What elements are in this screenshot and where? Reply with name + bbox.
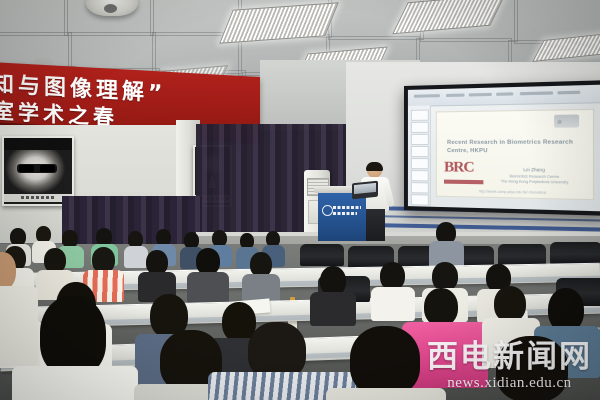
current-slide: Recent Research in Biometrics Research C… — [436, 109, 594, 200]
podium-text-line-2 — [333, 212, 357, 215]
seat-back — [550, 242, 600, 264]
slide-presenter-block: Lei Zhang Biometrics Research Centre The… — [487, 167, 584, 186]
affiliation-line-2: The Hong Kong Polytechnic University — [487, 179, 584, 186]
podium-text-line-1 — [333, 206, 361, 209]
presentation-toolbar — [408, 85, 600, 107]
seat-back — [300, 244, 344, 266]
slide-footer-url: http://www4.comp.polyu.edu.hk/~biometric… — [437, 189, 593, 196]
podium-banner — [318, 193, 366, 241]
brc-logo: BRC — [444, 159, 486, 184]
presenter-laptop — [352, 181, 378, 200]
presenter-name: Lei Zhang — [487, 167, 584, 173]
speaker-hair — [366, 162, 383, 171]
projection-screen: Recent Research in Biometrics Research C… — [404, 80, 600, 216]
photograph: 觉知与图像理解” 验室学术之春 — [0, 0, 600, 400]
brc-logo-text: BRC — [444, 159, 474, 177]
university-logo-icon — [322, 205, 333, 216]
slide-title: Recent Research in Biometrics Research C… — [447, 138, 579, 155]
seat-back — [498, 244, 546, 266]
university-crest-icon — [554, 114, 579, 127]
slide-thumbnail-pane — [408, 105, 431, 206]
speaker-trousers — [365, 209, 385, 241]
